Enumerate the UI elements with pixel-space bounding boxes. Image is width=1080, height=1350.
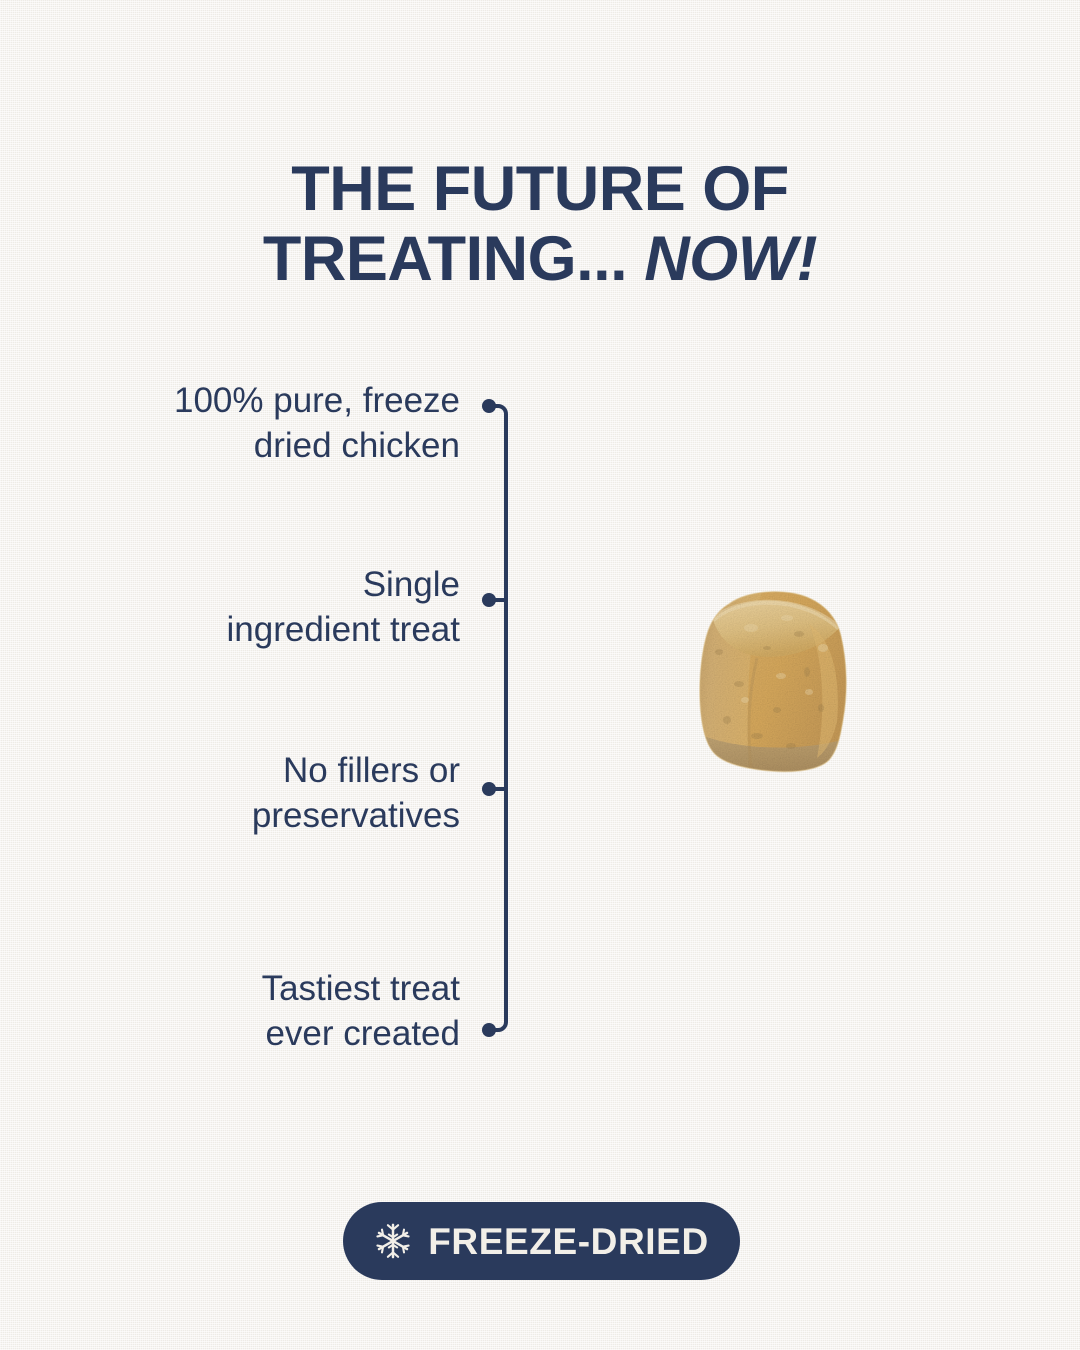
feature-2-line-1: Single [120,562,460,607]
feature-label-1: 100% pure, freeze dried chicken [120,378,460,468]
feature-4-line-2: ever created [120,1011,460,1056]
badge-label: FREEZE-DRIED [428,1223,709,1260]
connector-spine [492,406,506,1030]
feature-3-line-2: preservatives [120,793,460,838]
feature-2-line-2: ingredient treat [120,607,460,652]
headline-line-2-plain: TREATING... [263,224,627,294]
feature-label-4: Tastiest treat ever created [120,966,460,1056]
feature-label-2: Single ingredient treat [120,562,460,652]
headline-line-2: TREATING... NOW! [0,224,1080,294]
product-image [691,588,857,774]
headline-line-1: THE FUTURE OF [0,154,1080,224]
feature-label-3: No fillers or preservatives [120,748,460,838]
feature-connector-bracket [470,380,540,1050]
feature-1-line-1: 100% pure, freeze [120,378,460,423]
snowflake-icon [374,1222,412,1260]
connector-dot-1 [482,399,496,413]
connector-dot-4 [482,1023,496,1037]
connector-dot-3 [482,782,496,796]
connector-dot-2 [482,593,496,607]
headline-emphasis: NOW! [644,224,817,294]
feature-3-line-1: No fillers or [120,748,460,793]
feature-1-line-2: dried chicken [120,423,460,468]
promo-graphic: THE FUTURE OF TREATING... NOW! 100% pure… [0,0,1080,1350]
page-title: THE FUTURE OF TREATING... NOW! [0,154,1080,294]
status-badge: FREEZE-DRIED [343,1202,740,1280]
feature-4-line-1: Tastiest treat [120,966,460,1011]
